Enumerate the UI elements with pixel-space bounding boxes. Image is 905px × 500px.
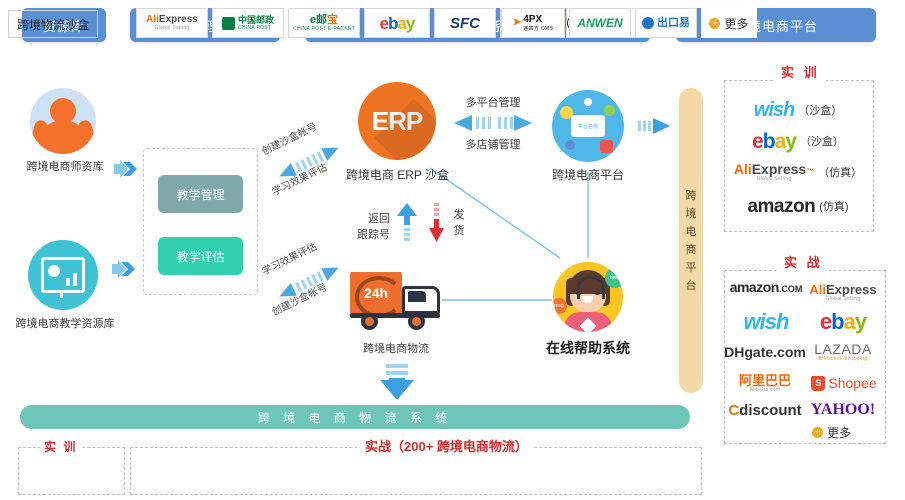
erp-sandbox-label: 跨境电商 ERP 沙盒 — [340, 166, 455, 183]
ebay-logo: ebay — [752, 131, 796, 152]
training-row-aliexpress[interactable]: AliExpress™ Global Selling （仿真） — [732, 160, 864, 184]
logistics-chip-sfc[interactable]: SFC — [434, 8, 496, 38]
training-row-amazon[interactable]: amazon (仿真) — [732, 192, 864, 220]
teaching-evaluation-button[interactable]: 教学评估 — [158, 237, 243, 275]
live-logo-dhgate[interactable]: DHgate.com — [726, 340, 804, 364]
alibaba-wordmark: 阿里巴巴 — [739, 374, 791, 387]
chip-chukouyi-wordmark: 出口易 — [657, 18, 690, 29]
label-return-1: 返回 — [348, 210, 390, 226]
help-bubble-green: hello — [605, 268, 623, 288]
teaching-resource-icon — [28, 240, 98, 310]
logistics-training-title: 实 训 — [40, 438, 81, 455]
logistics-truck-icon: 24h — [350, 272, 442, 330]
chip-aliexpress-sub: Global Selling — [154, 25, 189, 31]
tanbar-char-2: 电 — [686, 223, 697, 241]
live-logo-shopee[interactable]: S Shopee — [804, 370, 884, 396]
tanbar-char-0: 跨 — [686, 187, 697, 205]
live-logo-yahoo[interactable]: YAHOO! — [804, 398, 882, 422]
logistics-chip-chukouyi[interactable]: 出口易 — [635, 8, 697, 38]
truck-24h-label: 24h — [359, 281, 393, 305]
platform-screen-text: 平台名称 — [571, 115, 605, 137]
chukouyi-icon — [642, 17, 654, 29]
chip-more-label: 更多 — [724, 15, 748, 32]
plus-icon: + — [812, 427, 823, 438]
tanbar-char-5: 台 — [686, 277, 697, 295]
tanbar-char-4: 平 — [686, 259, 697, 277]
architecture-diagram: 资源库 教学管理系统 综合实训系统 跨境电商平台 跨境电商师资库 跨境电商教学资… — [0, 0, 905, 500]
logistics-sandbox-item[interactable]: 跨境物流沙盒 — [8, 10, 98, 38]
aliexpress-sublabel-2: Global Selling — [825, 296, 860, 302]
label-multi-platform-management: 多平台管理 — [448, 94, 538, 110]
erp-sandbox-icon: ERP — [358, 82, 436, 160]
chip-chinapost-en: CHINA POST — [238, 25, 274, 31]
help-bubble-orange: msg — [553, 298, 567, 314]
arrow-up-return-tracking — [396, 203, 418, 243]
amazon-suffix: .COM — [779, 285, 803, 294]
amazon-logo: amazon — [747, 197, 815, 216]
online-help-system-label: 在线帮助系统 — [520, 338, 656, 358]
logistics-live-title: 实战（200+ 跨境电商物流） — [360, 436, 533, 455]
arrow-teacher-to-teaching — [112, 158, 142, 180]
training-panel-title: 实 训 — [775, 62, 826, 81]
live-logo-ebay[interactable]: ebay — [804, 308, 882, 336]
aliexpress-tag: （仿真） — [818, 164, 862, 180]
wish-wordmark: wish — [744, 311, 789, 333]
teacher-pool-icon — [30, 88, 96, 154]
label-ship-2: 货 — [448, 222, 470, 238]
arrow-down-to-logistics-bar — [378, 364, 416, 402]
lazada-sublabel: Effortless Shopping — [819, 356, 868, 362]
logistics-chip-china-post[interactable]: 中国邮政 CHINA POST — [212, 8, 284, 38]
training-row-ebay[interactable]: ebay （沙盒） — [732, 127, 864, 155]
arrow-bidir-erp-platform — [452, 112, 534, 134]
shopee-wordmark: Shopee — [828, 376, 876, 390]
logistics-chip-more[interactable]: + 更多 — [701, 8, 757, 38]
chip-sfc-wordmark: SFC — [450, 16, 480, 31]
wish-tag: （沙盒） — [798, 102, 842, 118]
ebay-tag: （沙盒） — [800, 133, 844, 149]
tanbar-char-1: 境 — [686, 205, 697, 223]
live-panel-title: 实 战 — [778, 252, 829, 271]
wish-logo: wish — [754, 100, 794, 120]
label-multi-store-management: 多店铺管理 — [448, 136, 538, 152]
live-logo-cdiscount[interactable]: CCdiscountdiscount — [726, 398, 804, 422]
logistics-chip-anwen[interactable]: ANWEN — [569, 8, 631, 38]
amazon-wordmark: amazon — [730, 280, 779, 294]
teaching-module-box: 教学管理 教学评估 — [143, 148, 258, 295]
amazon-tag: (仿真) — [819, 198, 848, 214]
tanbar-char-3: 商 — [686, 241, 697, 259]
chip-chinapost-cn: 中国邮政 — [238, 16, 274, 25]
vertical-platform-bar: 跨 境 电 商 平 台 — [679, 88, 703, 393]
aliexpress-sublabel: Global Selling — [756, 176, 791, 182]
teacher-pool-label: 跨境电商师资库 — [10, 158, 120, 174]
plus-icon-2: + — [709, 18, 720, 29]
logistics-chip-aliexpress[interactable]: AliExpress Global Selling — [136, 8, 208, 38]
label-return-2: 跟踪号 — [340, 226, 390, 242]
lazada-wordmark: LAZADA — [814, 342, 871, 356]
china-post-icon — [222, 17, 235, 30]
live-more-button[interactable]: + 更多 — [812, 424, 880, 440]
arrow-down-shipping — [428, 203, 446, 243]
live-more-label: 更多 — [827, 424, 851, 441]
logistics-system-bar: 跨 境 电 商 物 流 系 统 — [20, 405, 690, 429]
logistics-chip-ebay[interactable]: ebay — [364, 8, 430, 38]
live-logo-alibaba[interactable]: 阿里巴巴 Alibaba.com — [726, 370, 804, 396]
arrow-platform-to-bar — [638, 114, 672, 138]
chip-epacket-sub: CHINA POST E-PACKET — [293, 26, 355, 32]
live-logo-aliexpress[interactable]: AliExpress Global Selling — [804, 278, 882, 306]
dhgate-wordmark: DHgate.com — [724, 345, 806, 359]
logistics-label: 跨境电商物流 — [340, 340, 452, 356]
logistics-chip-4px[interactable]: ➤ 4PX 递四方 OMS — [501, 8, 565, 38]
teaching-management-button[interactable]: 教学管理 — [158, 175, 243, 213]
yahoo-wordmark: YAHOO! — [811, 402, 875, 418]
ecommerce-platform-label: 跨境电商平台 — [537, 166, 639, 183]
teaching-resource-label: 跨境电商教学资源库 — [0, 315, 130, 331]
chip-4px-sub: 递四方 OMS — [523, 25, 553, 32]
online-help-system-icon: hello msg — [553, 262, 623, 332]
arrow-resource-to-teaching — [110, 258, 140, 280]
logistics-chip-epacket[interactable]: e邮宝 CHINA POST E-PACKET — [288, 8, 360, 38]
label-ship-1: 发 — [448, 206, 470, 222]
live-logo-amazon-com[interactable]: amazon .COM — [728, 280, 804, 306]
live-logo-wish[interactable]: wish — [728, 308, 804, 336]
live-logo-lazada[interactable]: LAZADA Effortless Shopping — [804, 338, 882, 366]
chip-anwen-wordmark: ANWEN — [577, 17, 622, 29]
ecommerce-platform-icon: 平台名称 — [552, 90, 624, 162]
shopee-bag-icon: S — [811, 376, 825, 391]
alibaba-sublabel: Alibaba.com — [750, 387, 781, 393]
chip-4px-en: 4PX — [523, 15, 553, 25]
aliexpress-logo: AliExpress™ — [734, 162, 814, 176]
training-row-wish[interactable]: wish （沙盒） — [732, 96, 864, 124]
